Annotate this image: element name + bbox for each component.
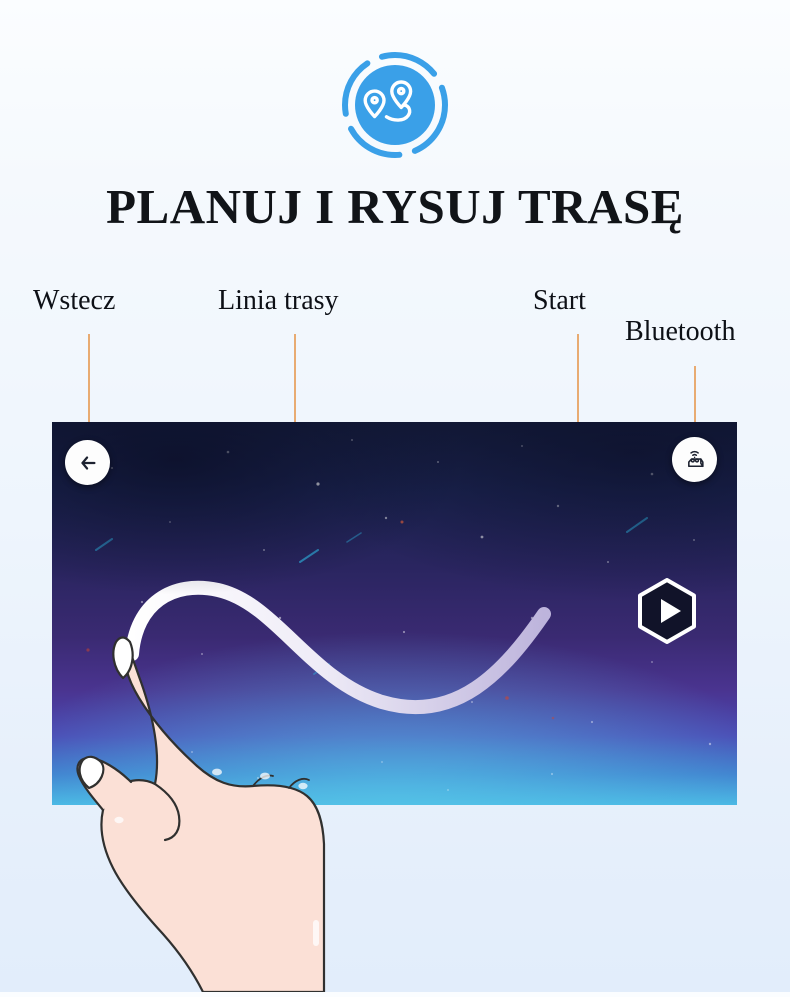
page-root: PLANUJ I RYSUJ TRASĘ Wstecz Linia trasy … [0,0,790,992]
callout-label-bluetooth: Bluetooth [625,316,735,348]
callout-label-back: Wstecz [33,285,115,317]
callout-label-start: Start [533,285,586,317]
start-button[interactable] [634,578,700,644]
header-badge-wrap [0,50,790,160]
page-title: PLANUJ I RYSUJ TRASĘ [0,178,790,235]
route-map-pins-icon [340,50,450,160]
bluetooth-button[interactable] [672,437,717,482]
arrow-left-icon [77,452,99,474]
callout-label-routeline: Linia trasy [218,285,339,317]
finger-drawing-gesture [75,620,375,992]
robot-car-signal-icon [681,446,709,474]
back-button[interactable] [65,440,110,485]
